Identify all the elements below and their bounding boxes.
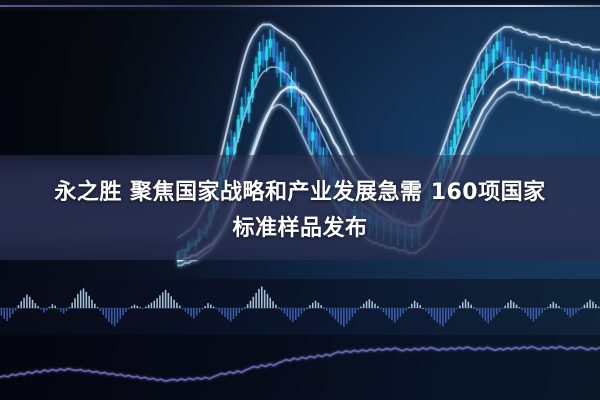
macd-panel <box>0 279 600 335</box>
indicator-panel <box>0 335 600 400</box>
title-block: 永之胜 聚焦国家战略和产业发展急需 160项国家 标准样品发布 <box>0 160 600 255</box>
top-highlight-line <box>0 5 600 7</box>
title-line-1: 永之胜 聚焦国家战略和产业发展急需 160项国家 <box>54 174 545 206</box>
indicator-chart-svg <box>0 335 600 400</box>
title-line-2: 标准样品发布 <box>232 210 367 242</box>
macd-chart-svg <box>0 279 600 335</box>
chart-banner-image: 股票配资网 永之胜 聚焦国家战略和产业发展急需 160项国家 标准样品发布 <box>0 0 600 400</box>
